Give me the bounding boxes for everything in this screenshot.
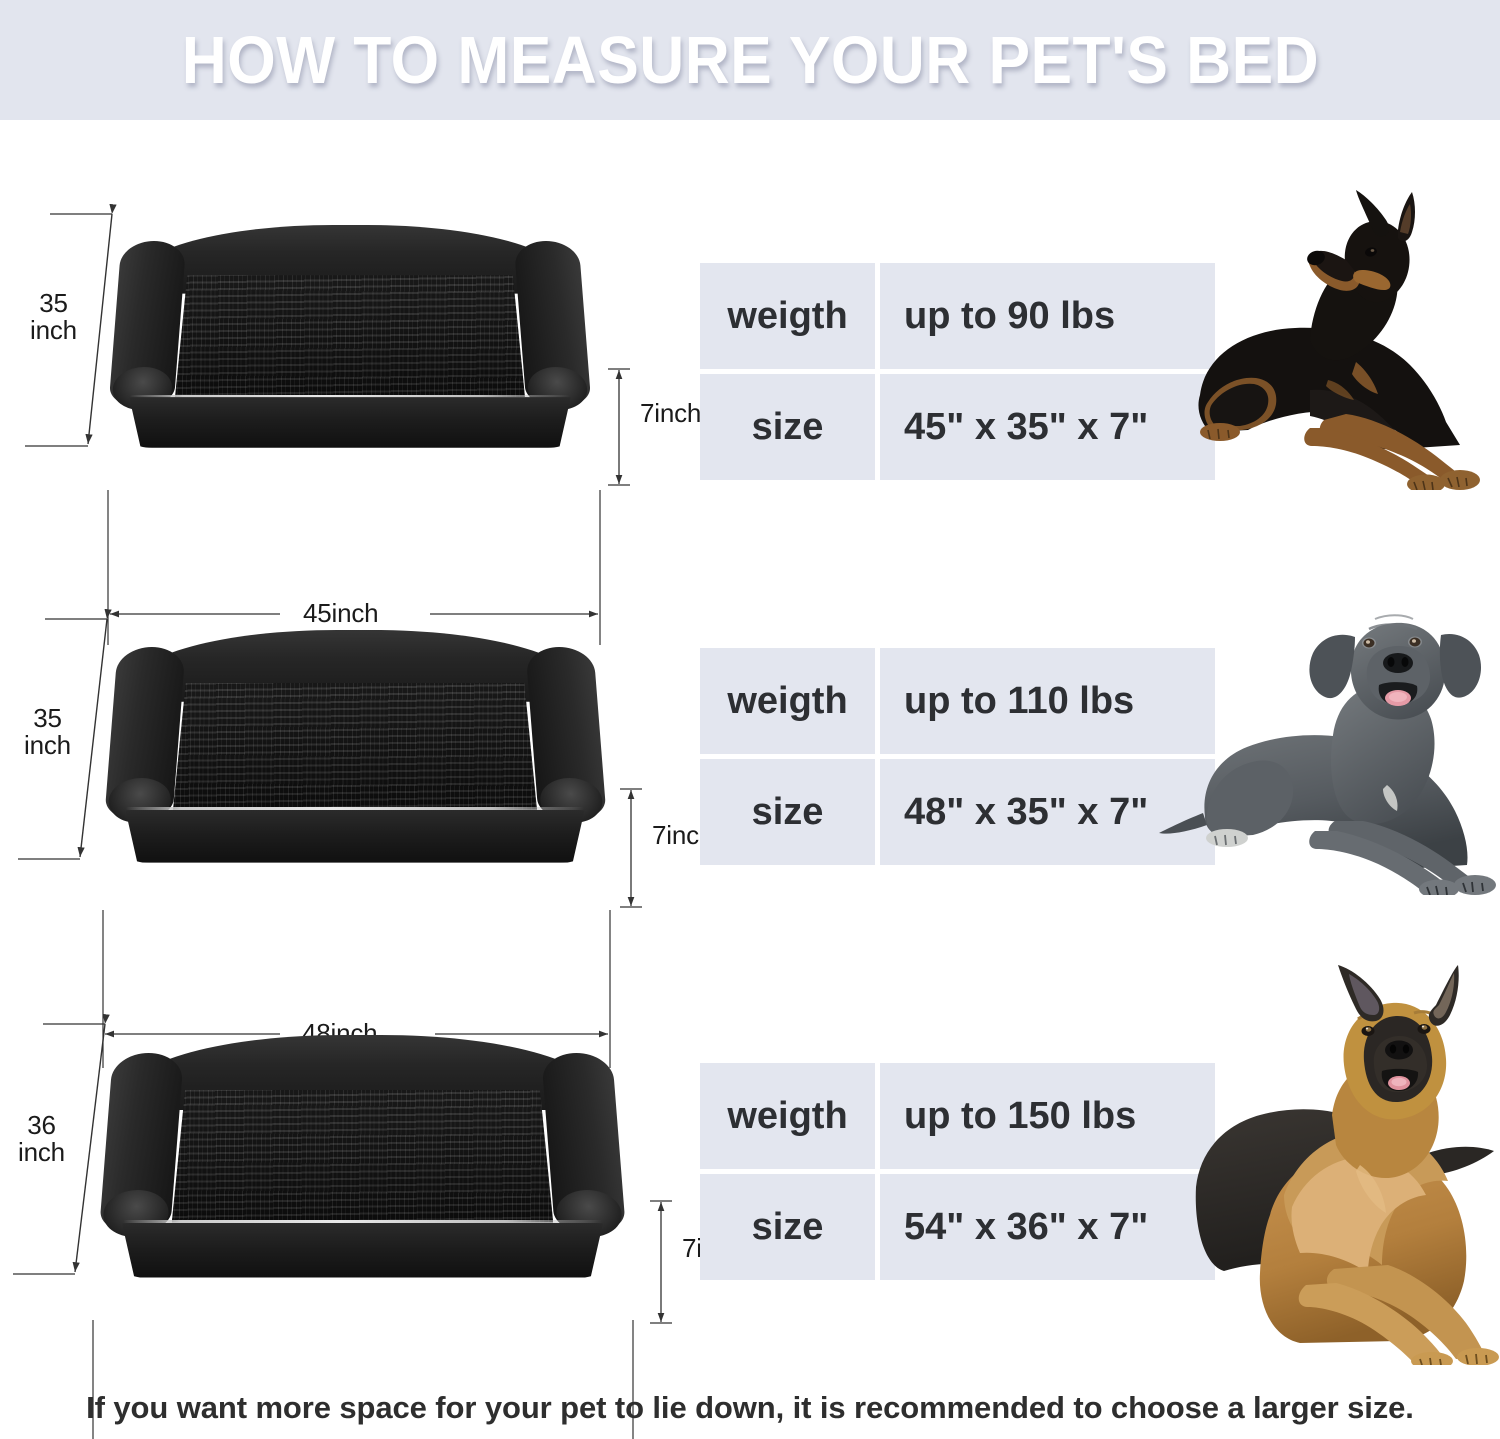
dog-photo-doberman [1160,190,1500,490]
spec-row-weight: weigth up to 90 lbs [700,263,1215,369]
spec-key-weight-text: weigth [727,1095,847,1138]
spec-value-weight-text: up to 90 lbs [904,295,1115,338]
size-row-3: 36 inch 54inch [0,960,1500,1380]
great-dane-illustration [1155,585,1500,895]
spec-key-size-text: size [752,406,824,449]
bed-illustration-3 [90,1030,635,1280]
spec-key-weight: weigth [700,263,875,369]
spec-key-size: size [700,374,875,480]
bed-base [112,1223,613,1278]
height-dimension-arrow-3 [642,1197,682,1332]
dog-photo-german-shepherd [1160,965,1500,1365]
height-dimension-arrow-2 [612,785,652,915]
spec-table-2: weigth up to 110 lbs size 48" x 35" x 7" [700,648,1215,865]
bed-graphic [95,625,615,865]
height-dimension-arrow-1 [600,365,640,495]
spec-key-size: size [700,1174,875,1280]
spec-row-size: size 48" x 35" x 7" [700,759,1215,865]
depth-dimension-label-3: 36 inch [18,1112,65,1165]
size-row-2: 35 inch 48inch [0,560,1500,960]
spec-value-size-text: 54" x 36" x 7" [904,1206,1148,1249]
spec-key-size-text: size [752,791,824,834]
spec-table-3: weigth up to 150 lbs size 54" x 36" x 7" [700,1063,1215,1280]
spec-row-weight: weigth up to 150 lbs [700,1063,1215,1169]
spec-table-1: weigth up to 90 lbs size 45" x 35" x 7" [700,263,1215,480]
bed-right-bolster [513,241,591,407]
spec-value-weight-text: up to 150 lbs [904,1095,1136,1138]
spec-row-size: size 45" x 35" x 7" [700,374,1215,480]
doberman-illustration [1160,190,1500,490]
spec-key-size: size [700,759,875,865]
bed-cushion [172,1090,554,1223]
depth-dimension-label-2: 35 inch [24,705,71,758]
dog-photo-great-dane [1155,585,1500,895]
spec-value-size-text: 48" x 35" x 7" [904,791,1148,834]
bed-base [120,397,580,448]
bed-illustration-1 [100,220,600,450]
spec-key-size-text: size [752,1206,824,1249]
size-row-1: 35 inch 45inch [0,150,1500,540]
page-title: HOW TO MEASURE YOUR PET'S BED [181,22,1318,99]
bed-graphic [100,220,600,450]
spec-row-size: size 54" x 36" x 7" [700,1174,1215,1280]
bed-right-bolster [525,647,606,820]
height-dimension-label-1: 7inch [640,400,701,427]
infographic-page: HOW TO MEASURE YOUR PET'S BED [0,0,1500,1439]
bed-graphic [90,1030,635,1280]
depth-dimension-label-1: 35 inch [30,290,77,343]
spec-key-weight-text: weigth [727,295,847,338]
spec-key-weight: weigth [700,648,875,754]
bed-illustration-2 [95,625,615,865]
bed-cushion [175,275,525,397]
bed-right-bolster [541,1053,626,1233]
footer-note: If you want more space for your pet to l… [0,1390,1500,1426]
spec-key-weight-text: weigth [727,680,847,723]
bed-base [116,810,594,863]
spec-value-weight-text: up to 110 lbs [904,680,1134,723]
spec-key-weight: weigth [700,1063,875,1169]
header-banner: HOW TO MEASURE YOUR PET'S BED [0,0,1500,120]
bed-cushion [173,683,537,810]
german-shepherd-illustration [1160,965,1500,1365]
spec-row-weight: weigth up to 110 lbs [700,648,1215,754]
spec-value-size-text: 45" x 35" x 7" [904,406,1148,449]
